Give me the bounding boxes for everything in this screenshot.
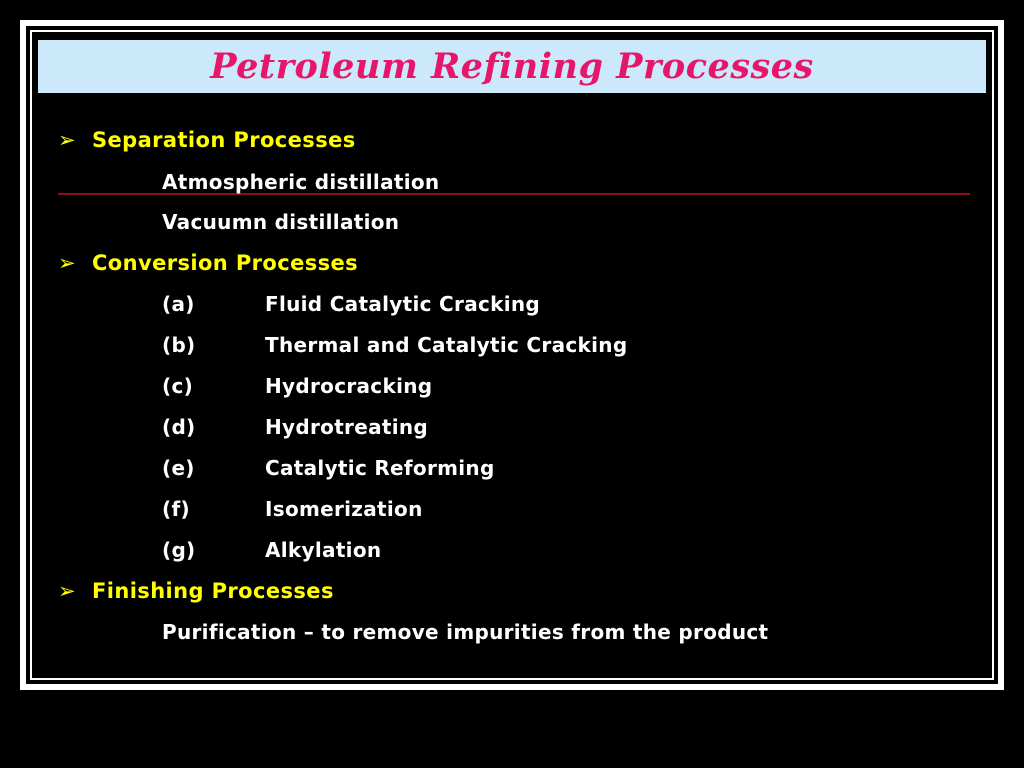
list-item-text: Vacuumn distillation [162, 210, 399, 234]
section-heading-label: Finishing Processes [92, 579, 334, 603]
list-item-label: (d) [162, 415, 265, 439]
list-item: (b) Thermal and Catalytic Cracking [162, 333, 627, 357]
list-item-text: Thermal and Catalytic Cracking [265, 333, 627, 357]
list-item-text: Fluid Catalytic Cracking [265, 292, 540, 316]
list-item: (c) Hydrocracking [162, 374, 432, 398]
list-item: (e) Catalytic Reforming [162, 456, 495, 480]
page-title: Petroleum Refining Processes [210, 49, 813, 84]
arrow-bullet-icon: ➢ [58, 130, 92, 151]
list-item-label: (e) [162, 456, 265, 480]
list-item-text: Isomerization [265, 497, 423, 521]
list-item-text: Atmospheric distillation [162, 170, 439, 194]
list-item: Atmospheric distillation [162, 170, 439, 194]
list-item: (g) Alkylation [162, 538, 381, 562]
list-item-text: Alkylation [265, 538, 381, 562]
arrow-bullet-icon: ➢ [58, 581, 92, 602]
arrow-bullet-icon: ➢ [58, 253, 92, 274]
list-item-text: Purification – to remove impurities from… [162, 620, 768, 644]
section-heading-finishing-processes: ➢ Finishing Processes [58, 579, 334, 603]
title-banner: Petroleum Refining Processes [38, 40, 986, 93]
section-heading-label: Separation Processes [92, 128, 356, 152]
slide-content: ➢ Separation Processes Atmospheric disti… [38, 110, 986, 670]
list-item-label: (f) [162, 497, 265, 521]
list-item: Purification – to remove impurities from… [162, 620, 768, 644]
section-heading-separation-processes: ➢ Separation Processes [58, 128, 356, 152]
list-item: (f) Isomerization [162, 497, 423, 521]
slide-canvas: Petroleum Refining Processes ➢ Separatio… [0, 0, 1024, 768]
list-item-label: (b) [162, 333, 265, 357]
list-item-label: (a) [162, 292, 265, 316]
list-item: Vacuumn distillation [162, 210, 399, 234]
list-item-label: (g) [162, 538, 265, 562]
list-item-text: Hydrotreating [265, 415, 428, 439]
list-item-text: Catalytic Reforming [265, 456, 495, 480]
list-item-label: (c) [162, 374, 265, 398]
section-heading-conversion-processes: ➢ Conversion Processes [58, 251, 358, 275]
list-item-text: Hydrocracking [265, 374, 432, 398]
list-item: (a) Fluid Catalytic Cracking [162, 292, 540, 316]
section-heading-label: Conversion Processes [92, 251, 358, 275]
list-item: (d) Hydrotreating [162, 415, 428, 439]
